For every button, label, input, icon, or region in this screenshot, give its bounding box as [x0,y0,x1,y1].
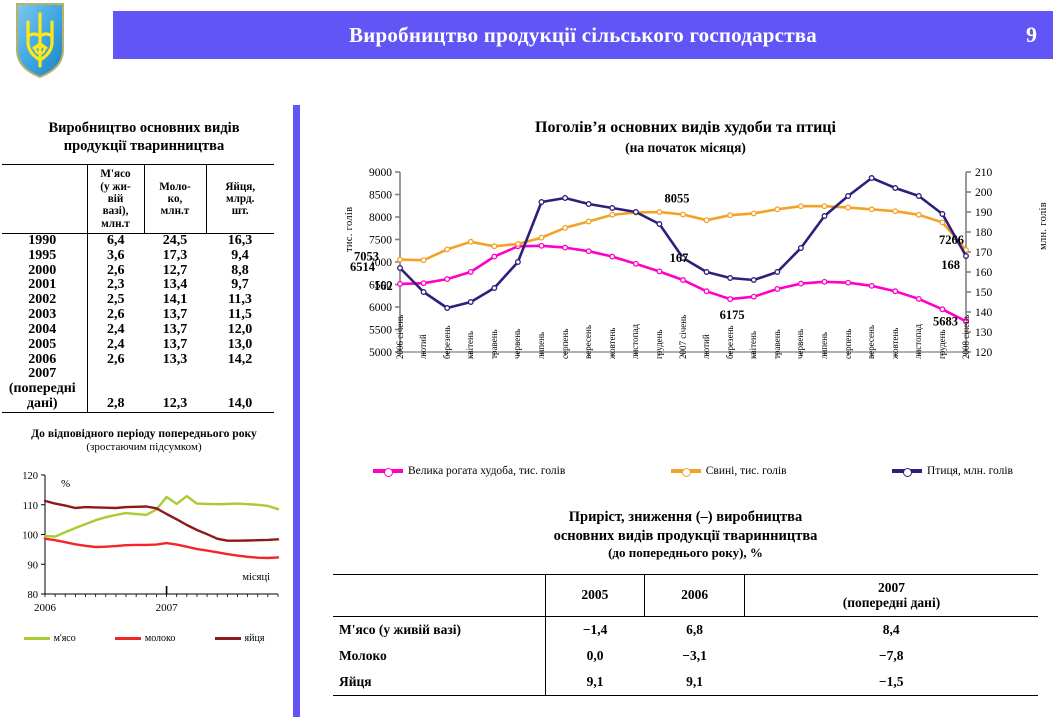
header-eggs: Яйця, млрд. шт. [206,165,274,234]
cell-milk: 14,1 [144,293,206,308]
mini-y-tick: 120 [22,471,38,482]
y-tick-right: 170 [975,247,993,259]
y-tick-right: 150 [975,287,993,299]
mini-series-line [45,501,278,541]
series-marker [775,287,780,292]
series-marker [728,276,733,281]
cell-year: 2006 [2,353,87,368]
mini-series-line [45,496,278,536]
cell-year: 2001 [2,278,87,293]
x-axis-label: лютий [418,335,428,360]
index-line-chart: 809010011012020062007%місяці [0,461,288,631]
x-axis-label: листопад [630,324,640,359]
ukraine-coat-of-arms-icon [14,2,66,80]
x-axis-label: квітень [465,331,475,359]
x-axis-label: березень [725,326,735,360]
series-marker [940,220,945,225]
cell-2005: −1,4 [545,616,645,643]
x-axis-label: серпень [560,329,570,359]
cell-2005: 0,0 [545,643,645,669]
growth-title-line-2: основних видів продукції тваринництва [318,527,1053,546]
legend-label: м'ясо [54,633,76,644]
page-title: Виробництво продукції сільського господа… [349,23,817,48]
cell-eggs: 12,0 [206,323,274,338]
y-tick-right: 160 [975,267,993,279]
y-tick-left: 8500 [369,190,392,202]
x-axis-label: вересень [583,325,593,359]
series-marker [634,262,639,267]
table-row: Яйця9,19,1−1,5 [333,669,1038,696]
growth-header-2005: 2005 [545,574,645,616]
series-marker [586,220,591,225]
table-row: 20032,613,711,5 [2,308,274,323]
header-milk: Моло- ко, млн.т [144,165,206,234]
series-marker [468,240,473,245]
mini-x-year: 2006 [34,602,57,614]
cell-meat: 2,4 [87,323,144,338]
series-marker [610,255,615,260]
data-label: 167 [670,251,689,265]
x-axis-label: лютий [701,335,711,360]
cell-year: 1990 [2,233,87,248]
cell-milk: 12,3 [144,367,206,412]
series-marker [869,176,874,181]
legend-swatch [215,637,241,641]
series-marker [846,206,851,211]
data-label: 7053 [354,250,379,264]
table-row: 20042,413,712,0 [2,323,274,338]
legend-label: яйця [245,633,265,644]
x-axis-label: липень [819,332,829,359]
cell-milk: 17,3 [144,249,206,264]
mini-y-tick: 80 [28,590,39,601]
table-row: 2007(попереднідані)2,812,314,0 [2,367,274,412]
series-marker [751,278,756,283]
series-marker [657,222,662,227]
animal-production-table-title: Виробництво основних видів продукції тва… [0,120,288,155]
table-row: 20022,514,111,3 [2,293,274,308]
legend-item: Птиця, млн. голів [892,465,1013,477]
series-marker [751,211,756,216]
series-marker [869,207,874,212]
y-tick-left: 8000 [369,212,392,224]
series-marker [563,196,568,201]
legend-swatch [671,469,701,473]
legend-swatch [373,469,403,473]
series-marker [681,213,686,218]
series-marker [846,194,851,199]
table-row: Молоко0,0−3,1−7,8 [333,643,1038,669]
data-label: 162 [374,279,393,293]
cell-milk: 13,7 [144,323,206,338]
cell-year: 2007(попереднідані) [2,367,87,412]
cell-year: 2005 [2,338,87,353]
series-marker [964,254,969,259]
table-row: 20002,612,78,8 [2,264,274,279]
cell-meat: 2,6 [87,308,144,323]
table-row: 20012,313,49,7 [2,278,274,293]
series-marker [610,206,615,211]
series-marker [563,226,568,231]
cell-2006: −3,1 [645,643,745,669]
legend-swatch [892,469,922,473]
legend-item: Свині, тис. голів [671,465,787,477]
mini-x-year: 2007 [156,602,179,614]
mini-y-tick: 110 [23,501,38,512]
cell-milk: 12,7 [144,264,206,279]
header-blank [2,165,87,234]
cell-2007: −7,8 [744,643,1038,669]
y-tick-right: 120 [975,347,993,359]
table-row: 19906,424,516,3 [2,233,274,248]
legend-label: Свині, тис. голів [706,465,787,477]
cell-eggs: 14,2 [206,353,274,368]
series-marker [398,282,403,287]
legend-swatch [24,637,50,641]
y-tick-right: 130 [975,327,993,339]
index-chart-legend: м'ясомолокояйця [4,633,284,644]
x-axis-label: 2006 січень [395,315,405,359]
series-marker [539,244,544,249]
y-tick-right: 200 [975,187,993,199]
cell-meat: 2,4 [87,338,144,353]
y-tick-left: 6000 [369,302,392,314]
cell-meat: 2,6 [87,264,144,279]
legend-item: молоко [115,633,176,644]
series-marker [822,280,827,285]
series-marker [893,289,898,294]
series-marker [940,307,945,312]
cell-meat: 3,6 [87,249,144,264]
vertical-divider [293,105,300,717]
series-marker [799,282,804,287]
series-marker [822,204,827,209]
left-panel: Виробництво основних видів продукції тва… [0,120,288,644]
growth-table: 2005 2006 2007 (попередні дані) М'ясо (у… [333,574,1038,696]
cell-year: 2004 [2,323,87,338]
series-marker [917,213,922,218]
cell-milk: 13,7 [144,338,206,353]
series-marker [421,281,426,286]
growth-header-blank [333,574,545,616]
x-axis-label: квітень [748,331,758,359]
growth-title-line-1: Приріст, зниження (–) виробництва [318,508,1053,527]
x-axis-label: серпень [843,329,853,359]
mini-y-axis-label: % [61,478,70,490]
series-marker [893,209,898,214]
series-marker [869,284,874,289]
mini-x-axis-label: місяці [242,572,270,583]
cell-product: Молоко [333,643,545,669]
cell-product: Яйця [333,669,545,696]
x-axis-label: жовтень [890,328,900,359]
series-marker [468,270,473,275]
series-marker [940,212,945,217]
cell-eggs: 9,7 [206,278,274,293]
growth-header-2006: 2006 [645,574,745,616]
data-label: 8055 [665,192,690,206]
series-marker [516,242,521,247]
x-axis-label: 2007 січень [678,315,688,359]
x-axis-label: вересень [866,325,876,359]
series-marker [634,210,639,215]
series-marker [893,186,898,191]
series-marker [846,281,851,286]
table-row: 20062,613,314,2 [2,353,274,368]
series-marker [704,289,709,294]
cell-milk: 24,5 [144,233,206,248]
cell-meat: 2,8 [87,367,144,412]
series-marker [563,246,568,251]
series-marker [917,194,922,199]
cell-eggs: 11,5 [206,308,274,323]
title-line-1: Виробництво основних видів [8,120,280,138]
legend-item: Велика рогата худоба, тис. голів [373,465,565,477]
cell-meat: 2,6 [87,353,144,368]
data-label: 168 [941,258,960,272]
cell-eggs: 9,4 [206,249,274,264]
legend-label: Птиця, млн. голів [927,465,1013,477]
cell-milk: 13,7 [144,308,206,323]
index-chart-title: До відповідного періоду попереднього рок… [0,427,288,455]
y-tick-left: 9000 [369,167,392,179]
cell-year: 1995 [2,249,87,264]
series-marker [539,236,544,241]
cell-eggs: 11,3 [206,293,274,308]
x-axis-label: листопад [913,324,923,359]
cell-milk: 13,4 [144,278,206,293]
series-marker [799,246,804,251]
cell-meat: 6,4 [87,233,144,248]
cell-eggs: 8,8 [206,264,274,279]
series-marker [492,255,497,260]
series-marker [586,249,591,254]
series-marker [681,278,686,283]
y-tick-right: 180 [975,227,993,239]
data-label: 6175 [720,308,745,322]
cell-meat: 2,5 [87,293,144,308]
series-marker [398,258,403,263]
series-marker [492,286,497,291]
series-marker [657,269,662,274]
series-marker [822,214,827,219]
cell-eggs: 13,0 [206,338,274,353]
slide-header-bar: Виробництво продукції сільського господа… [113,11,1053,59]
legend-label: молоко [145,633,176,644]
cell-product: М'ясо (у живій вазі) [333,616,545,643]
series-marker [421,290,426,295]
cell-2006: 6,8 [645,616,745,643]
series-marker [728,213,733,218]
series-marker [468,300,473,305]
x-axis-label: 2008 січень [961,315,971,359]
livestock-chart-legend: Велика рогата худоба, тис. голівСвині, т… [373,465,1013,477]
animal-production-table: М'ясо (у жи- вій вазі), млн.т Моло- ко, … [2,164,274,413]
series-marker [704,218,709,223]
title-line-2: продукції тваринництва [8,138,280,156]
mini-y-tick: 90 [28,560,39,571]
y-tick-left: 5500 [369,325,392,337]
series-marker [445,247,450,252]
page-number: 9 [1026,22,1037,48]
x-axis-label: грудень [937,330,947,360]
y-tick-right: 190 [975,207,993,219]
growth-header-2007: 2007 (попередні дані) [744,574,1038,616]
y-tick-right: 140 [975,307,993,319]
cell-2006: 9,1 [645,669,745,696]
series-marker [586,202,591,207]
x-axis-label: травень [489,330,499,360]
x-axis-label: травень [772,330,782,360]
livestock-plot-area: тис. голів млн. голів 500055006000650070… [318,164,1053,464]
series-marker [492,244,497,249]
series-marker [445,277,450,282]
y-tick-right: 210 [975,167,993,179]
livestock-chart-title: Поголів’я основних видів худоби та птиці… [318,118,1053,156]
series-marker [728,297,733,302]
livestock-title-line-2: (на початок місяця) [318,139,1053,157]
growth-table-panel: Приріст, зниження (–) виробництва основн… [318,508,1053,696]
legend-item: яйця [215,633,265,644]
y-tick-left: 5000 [369,347,392,359]
y-axis-right-title: млн. голів [1038,170,1049,250]
header-meat: М'ясо (у жи- вій вазі), млн.т [87,165,144,234]
livestock-title-line-1: Поголів’я основних видів худоби та птиці [318,118,1053,139]
x-axis-label: березень [442,326,452,360]
cell-eggs: 14,0 [206,367,274,412]
series-marker [539,200,544,205]
table-row: 20052,413,713,0 [2,338,274,353]
series-marker [421,258,426,263]
cell-eggs: 16,3 [206,233,274,248]
legend-item: м'ясо [24,633,76,644]
cell-2007: −1,5 [744,669,1038,696]
y-axis-left-title: тис. голів [344,172,355,252]
series-marker [775,270,780,275]
growth-table-title: Приріст, зниження (–) виробництва основн… [318,508,1053,562]
series-marker [657,210,662,215]
x-axis-label: жовтень [607,328,617,359]
legend-swatch [115,637,141,641]
series-marker [704,270,709,275]
table-row: 19953,617,39,4 [2,249,274,264]
cell-meat: 2,3 [87,278,144,293]
x-axis-label: липень [536,332,546,359]
data-label: 5683 [933,315,958,329]
table-row: М'ясо (у живій вазі)−1,46,88,4 [333,616,1038,643]
cell-milk: 13,3 [144,353,206,368]
x-axis-label: червень [512,329,522,359]
series-marker [610,213,615,218]
index-title-line-1: До відповідного періоду попереднього рок… [0,427,288,441]
x-axis-label: грудень [654,330,664,360]
growth-title-line-3: (до попереднього року), % [318,545,1053,562]
series-marker [398,266,403,271]
series-marker [799,204,804,209]
x-axis-label: червень [795,329,805,359]
series-marker [917,297,922,302]
cell-year: 2003 [2,308,87,323]
cell-2007: 8,4 [744,616,1038,643]
cell-2005: 9,1 [545,669,645,696]
series-marker [751,295,756,300]
livestock-chart-panel: Поголів’я основних видів худоби та птиці… [318,118,1053,498]
legend-label: Велика рогата худоба, тис. голів [408,465,565,477]
y-tick-left: 7500 [369,235,392,247]
mini-y-tick: 100 [22,531,38,542]
series-marker [775,207,780,212]
data-label: 7266 [939,233,964,247]
cell-year: 2000 [2,264,87,279]
series-marker [516,260,521,265]
series-marker [445,306,450,311]
cell-year: 2002 [2,293,87,308]
index-title-line-2: (зростаючим підсумком) [0,441,288,455]
